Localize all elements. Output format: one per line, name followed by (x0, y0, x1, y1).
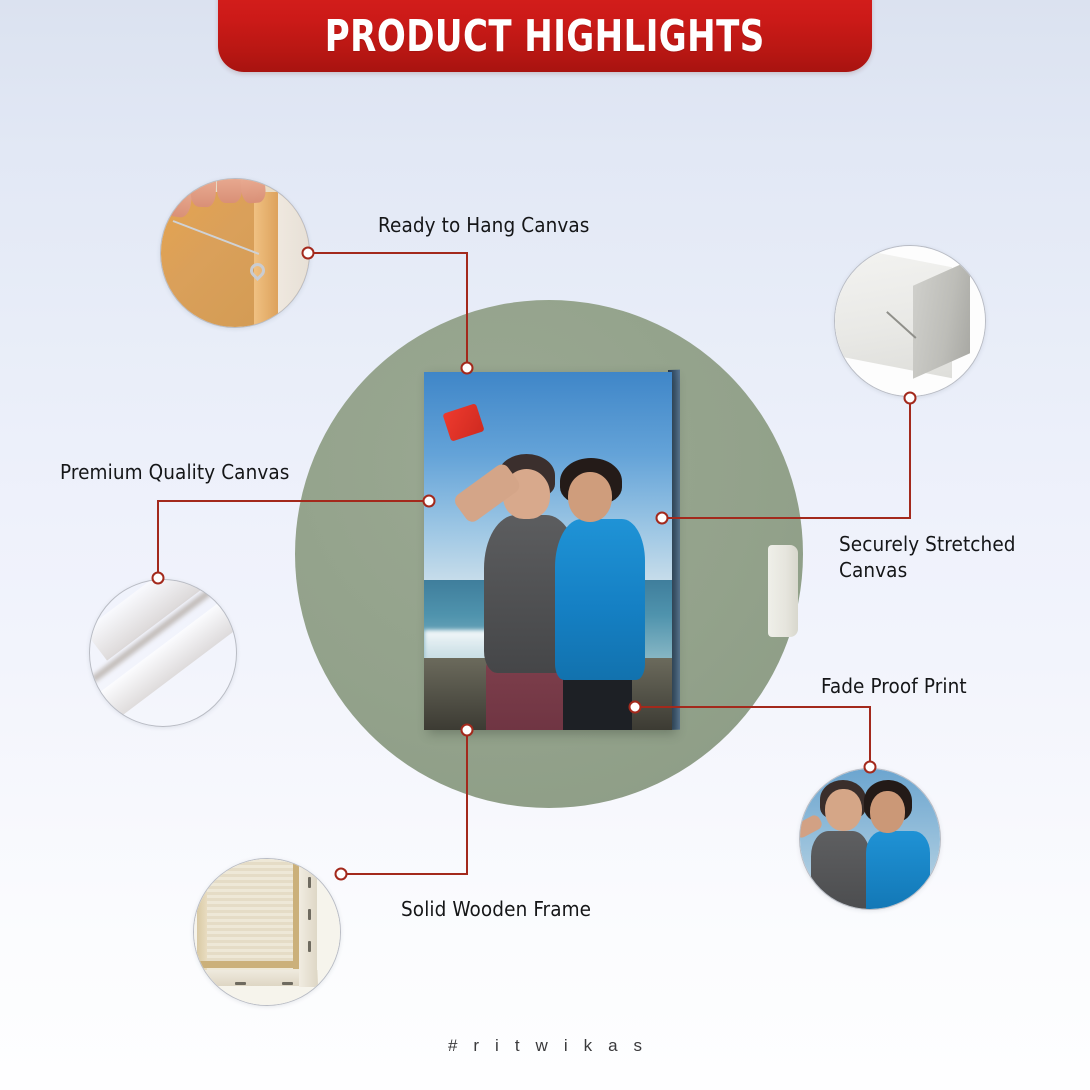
feature-label-solid-wooden-frame: Solid Wooden Frame (401, 896, 591, 922)
connector-dot (424, 496, 435, 507)
feature-label-securely-stretched: Securely Stretched Canvas (839, 531, 1016, 583)
feature-label-ready-to-hang: Ready to Hang Canvas (378, 212, 590, 238)
connector-dot (462, 725, 473, 736)
connector-securely-stretched (667, 403, 910, 518)
connector-dot (303, 248, 314, 259)
connector-solid-wooden-frame (346, 735, 467, 874)
connector-dot (905, 393, 916, 404)
connector-dot (153, 573, 164, 584)
connector-ready-to-hang (313, 253, 467, 363)
connector-dot (865, 762, 876, 773)
footer-handle: #ritwikas (0, 1036, 1090, 1056)
connector-dot (630, 702, 641, 713)
connector-premium-quality (158, 501, 424, 573)
feature-label-fade-proof: Fade Proof Print (821, 673, 967, 699)
connector-fade-proof (640, 707, 870, 762)
feature-label-premium-quality: Premium Quality Canvas (60, 459, 290, 485)
connector-dot (336, 869, 347, 880)
poster-canvas: PRODUCT HIGHLIGHTS (0, 0, 1090, 1090)
connector-dot (462, 363, 473, 374)
connector-dot (657, 513, 668, 524)
